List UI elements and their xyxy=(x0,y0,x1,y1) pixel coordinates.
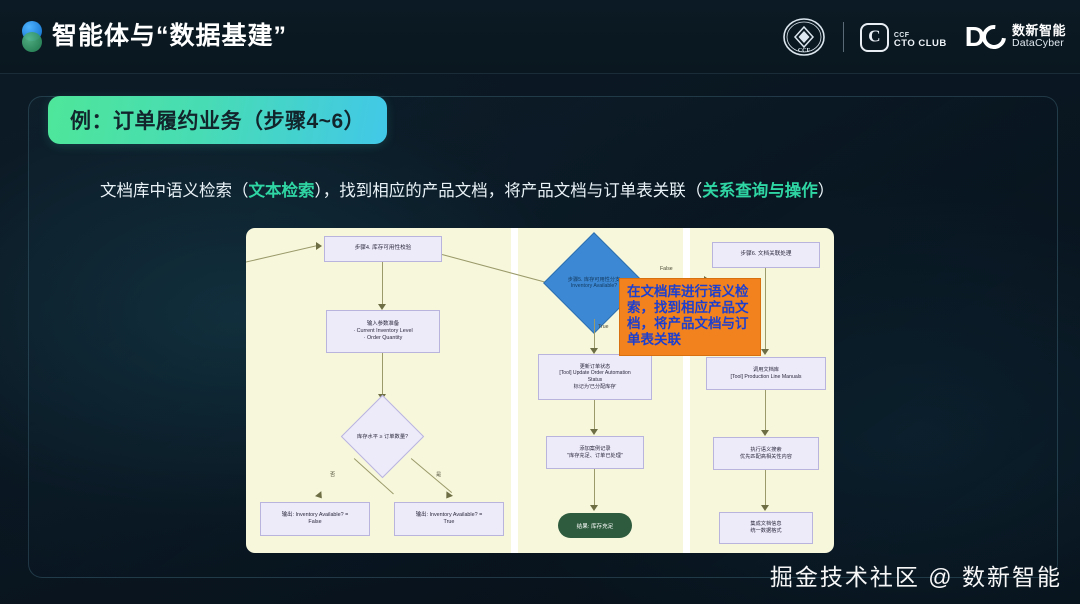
node-update-order-status: 更新订单状态 [Tool] Update Order Automation St… xyxy=(538,354,652,400)
brand-dual-circle-icon xyxy=(20,21,46,53)
desc-part-1: 文档库中语义检索（ xyxy=(100,182,249,200)
edge-step6-to-doclib xyxy=(765,268,766,352)
edge-label-step5-false: False xyxy=(660,266,673,272)
edge-label-step5-true: True xyxy=(598,324,608,330)
node-line: 输出: Inventory Available? = xyxy=(265,512,365,519)
flowchart-panel: 步骤4. 库存可用性校验 输入参数准备 · Current Inventory … xyxy=(246,228,834,553)
datacyber-name-cn: 数新智能 xyxy=(1012,24,1066,39)
arrow-diamond-false xyxy=(315,491,325,501)
svg-text:CCF: CCF xyxy=(798,48,811,54)
brand-circle-green xyxy=(22,32,42,52)
watermark: 掘金技术社区 @ 数新智能 xyxy=(770,558,1062,592)
node-step6-header: 步骤6. 文档关联处理 xyxy=(712,242,820,268)
column-divider-1 xyxy=(511,228,518,553)
datacyber-name-en: DataCyber xyxy=(1012,38,1066,50)
ccf-cto-club-logo: CCF CTO CLUB xyxy=(860,23,947,52)
node-line: False xyxy=(265,519,365,526)
node-line: 输出: Inventory Available? = xyxy=(399,512,499,519)
node-line: · Current Inventory Level xyxy=(331,328,435,335)
desc-part-2: ），找到相应的产品文档，将产品文档与订单表关联（ xyxy=(315,182,703,200)
node-line: 结果: 库存充足 xyxy=(577,522,614,530)
edge-input-to-diamond xyxy=(382,353,383,397)
node-line: 库存水平 ≥ 订单数量? xyxy=(357,434,408,441)
edge-step4-to-input xyxy=(382,262,383,307)
node-add-case-record: 添加案例记录 "库存充足、订单已处理" xyxy=(546,436,644,469)
node-integrate-doc: 集成文档信息 统一数据格式 xyxy=(719,512,813,544)
edge-label-false: 否 xyxy=(330,471,335,478)
node-line: 优先匹配高相关性内容 xyxy=(718,454,814,461)
cto-club-line2: CTO CLUB xyxy=(894,39,947,49)
desc-part-3: ） xyxy=(818,182,835,200)
node-inventory-check-label: 库存水平 ≥ 订单数量? xyxy=(335,426,430,448)
node-line: 步骤4. 库存可用性校验 xyxy=(329,245,437,252)
arrow-case-to-result xyxy=(590,505,598,511)
desc-highlight-2: 关系查询与操作 xyxy=(702,182,818,200)
slide-header: 智能体与“数据基建” CCF CCF CTO CLUB xyxy=(0,0,1080,74)
node-output-true: 输出: Inventory Available? = True xyxy=(394,502,504,536)
arrow-search-to-integrate xyxy=(761,505,769,511)
node-output-false: 输出: Inventory Available? = False xyxy=(260,502,370,536)
node-line: 标记为'已分配库存' xyxy=(543,384,647,391)
edge-diamond-true xyxy=(411,458,452,493)
slide-background: 智能体与“数据基建” CCF CCF CTO CLUB xyxy=(0,0,1080,604)
datacyber-logo: D 数新智能 DataCyber xyxy=(965,23,1066,51)
node-semantic-search: 执行语义搜索 优先匹配高相关性内容 xyxy=(713,437,819,470)
node-line: 添加案例记录 xyxy=(551,446,639,453)
arrow-in-step4 xyxy=(316,242,322,250)
desc-highlight-1: 文本检索 xyxy=(249,182,315,200)
node-line: · Order Quantity xyxy=(331,335,435,342)
node-step4-header: 步骤4. 库存可用性校验 xyxy=(324,236,442,262)
node-input-params: 输入参数准备 · Current Inventory Level · Order… xyxy=(326,310,440,353)
edge-label-true: 是 xyxy=(436,471,441,478)
edge-search-to-integrate xyxy=(765,470,766,508)
arrow-doclib-to-search xyxy=(761,430,769,436)
node-line: [Tool] Production Line Manuals xyxy=(711,374,821,381)
node-line: 统一数据格式 xyxy=(724,528,808,535)
edge-step4-to-step5 xyxy=(442,254,554,285)
node-result-terminal: 结果: 库存充足 xyxy=(558,513,632,538)
node-line: 步骤6. 文档关联处理 xyxy=(717,251,815,258)
node-line: 集成文档信息 xyxy=(724,521,808,528)
logo-divider xyxy=(843,22,844,52)
logo-cluster: CCF CCF CTO CLUB D 数新智能 DataCyber xyxy=(781,14,1066,60)
edge-case-to-result xyxy=(594,469,595,508)
page-title: 智能体与“数据基建” xyxy=(52,16,287,56)
column-divider-2 xyxy=(683,228,690,553)
datacyber-mark-icon: D xyxy=(965,23,1006,51)
description-line: 文档库中语义检索（文本检索），找到相应的产品文档，将产品文档与订单表关联（关系查… xyxy=(100,178,980,204)
node-line: True xyxy=(399,519,499,526)
node-line: Inventory Available? xyxy=(571,283,617,290)
node-line: 执行语义搜索 xyxy=(718,447,814,454)
arrow-step6-to-doclib xyxy=(761,349,769,355)
node-line: 调用文档库 xyxy=(711,367,821,374)
ccf-seal-logo: CCF xyxy=(781,17,827,57)
section-badge: 例：订单履约业务（步骤4~6） xyxy=(48,96,387,144)
node-call-doclib: 调用文档库 [Tool] Production Line Manuals xyxy=(706,357,826,390)
node-line: "库存充足、订单已处理" xyxy=(551,453,639,460)
node-line: 输入参数准备 xyxy=(331,321,435,328)
edge-in-step4 xyxy=(246,245,316,263)
edge-doclib-to-search xyxy=(765,390,766,433)
annotation-callout: 在文档库进行语义检索，找到相应产品文档，将产品文档与订单表关联 xyxy=(619,278,761,356)
edge-step5-true xyxy=(594,319,595,351)
arrow-update-to-case xyxy=(590,429,598,435)
cto-club-mark-icon xyxy=(860,23,889,52)
edge-update-to-case xyxy=(594,400,595,432)
